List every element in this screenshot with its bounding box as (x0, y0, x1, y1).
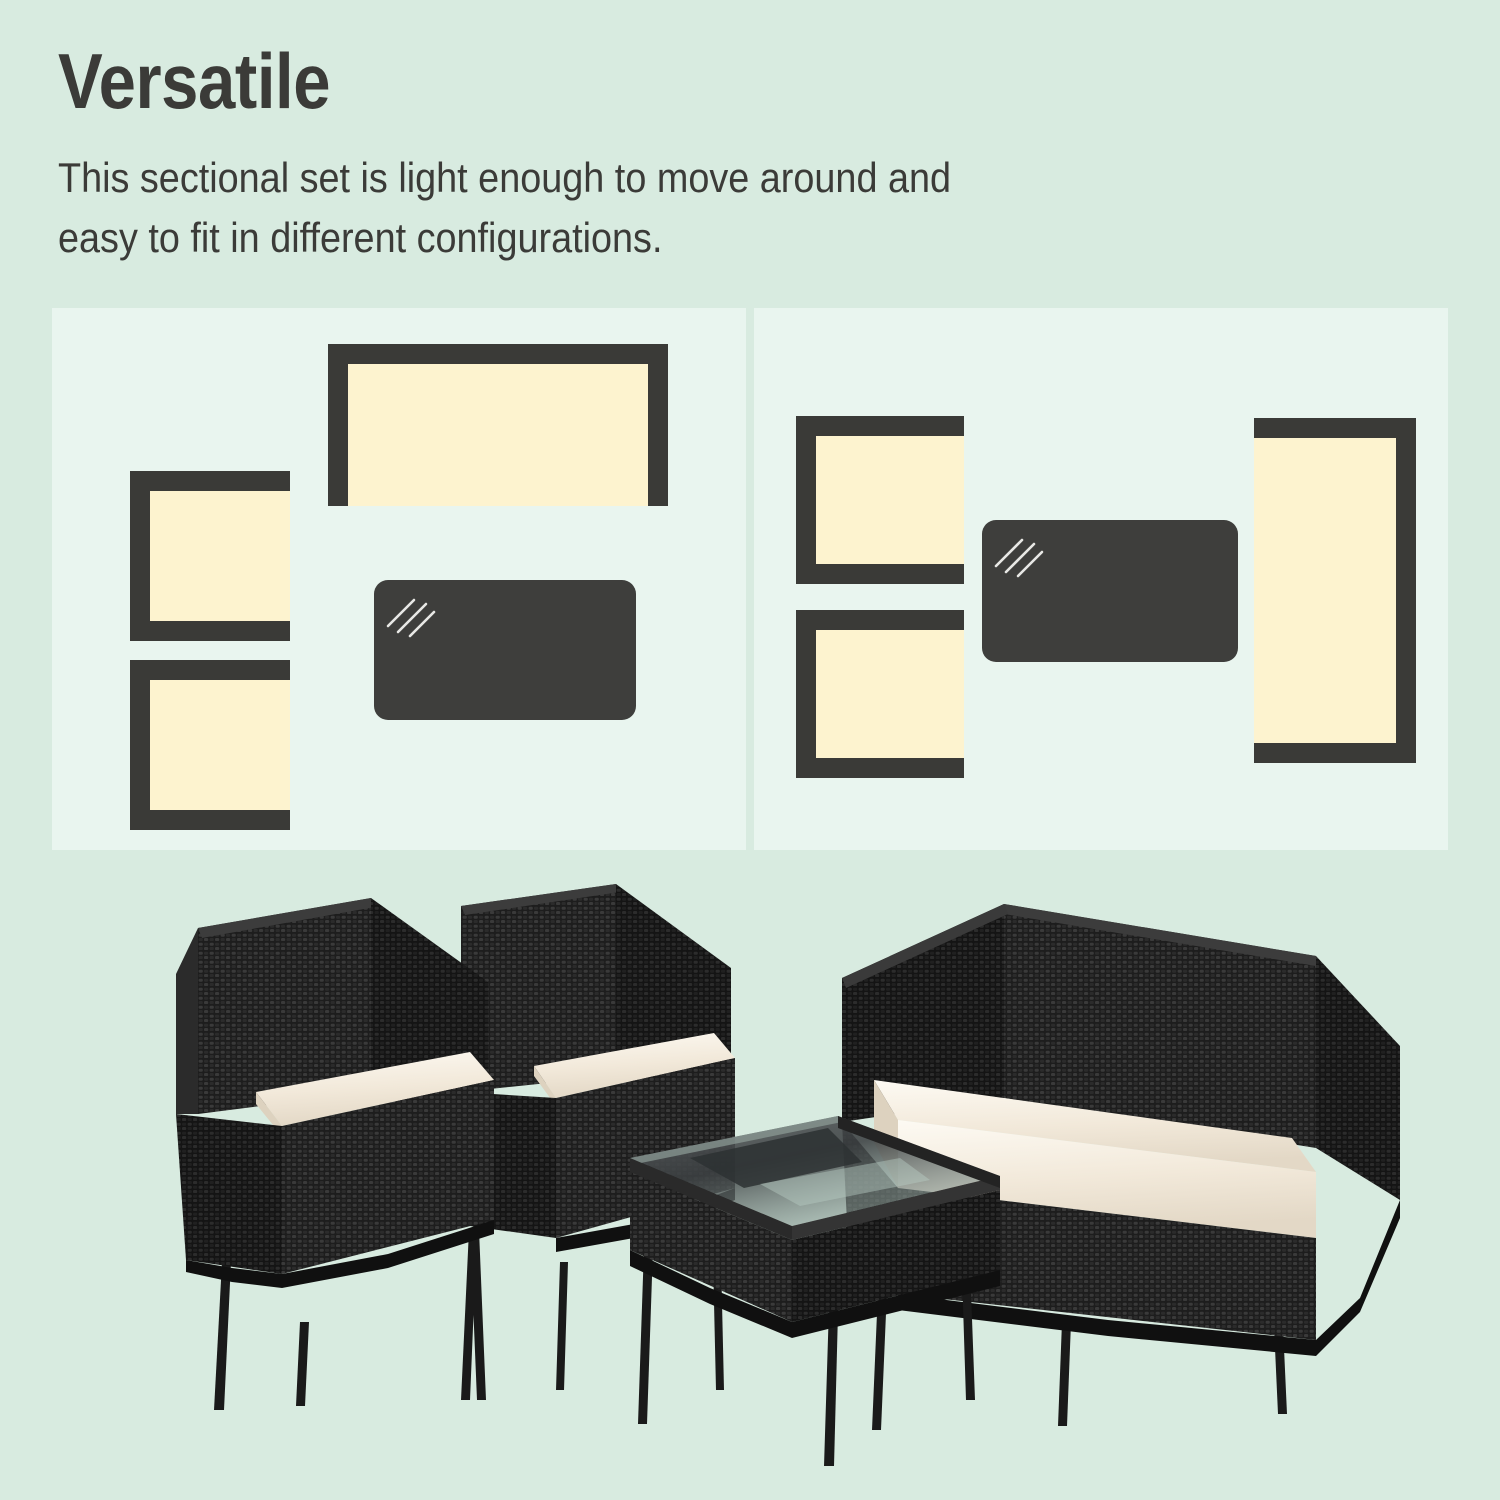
configuration-panel-b (754, 308, 1448, 850)
glass-shine-icon (384, 590, 444, 642)
header-block: Versatile This sectional set is light en… (58, 42, 1258, 267)
diagram-loveseat-top (328, 344, 668, 506)
diagram-glass-table-a (374, 580, 636, 720)
page-title: Versatile (58, 42, 1090, 120)
diagram-armchair-left-lower (130, 660, 290, 830)
page-subtitle: This sectional set is light enough to mo… (58, 148, 1138, 267)
diagram-armchair-left-upper (130, 471, 290, 641)
glass-shine-icon (992, 530, 1052, 582)
diagram-loveseat-right (1254, 418, 1416, 763)
patio-furniture-set-photo (0, 870, 1500, 1500)
configuration-diagrams (52, 308, 1448, 850)
diagram-armchair-left-upper (796, 416, 964, 584)
furniture-illustration (0, 870, 1500, 1500)
diagram-armchair-left-lower (796, 610, 964, 778)
diagram-glass-table-b (982, 520, 1238, 662)
configuration-panel-a (52, 308, 746, 850)
